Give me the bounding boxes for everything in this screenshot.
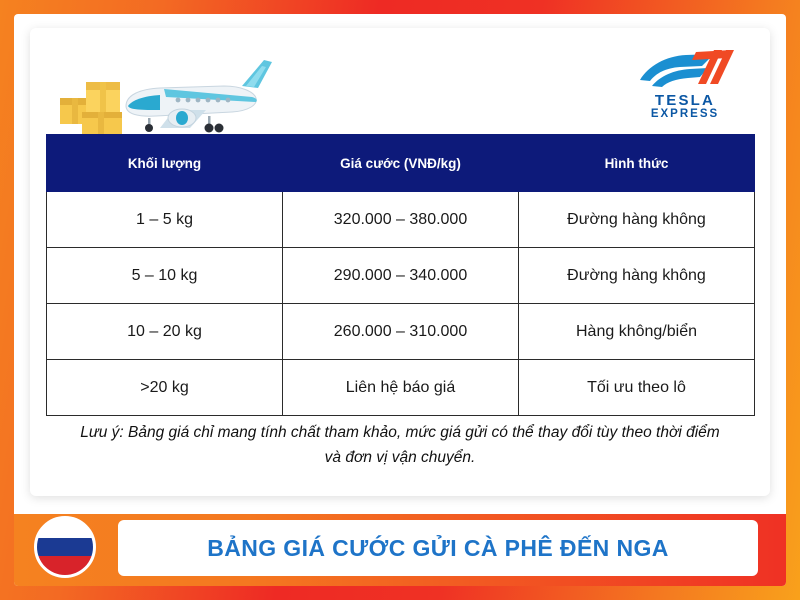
shipping-illustration [56, 48, 276, 148]
page-title: BẢNG GIÁ CƯỚC GỬI CÀ PHÊ ĐẾN NGA [207, 535, 669, 562]
tesla-express-swoosh-icon [622, 46, 748, 92]
logo-text-express: EXPRESS [622, 108, 748, 121]
cell-price: Liên hệ báo giá [283, 360, 519, 416]
cell-method: Đường hàng không [519, 192, 755, 248]
logo-mark-icon [622, 46, 748, 92]
logo-text-tesla: TESLA [622, 93, 748, 108]
cell-method: Tối ưu theo lô [519, 360, 755, 416]
poster: TESLA EXPRESS Khối lượng Giá cước (VNĐ/k… [0, 0, 800, 600]
cell-method: Hàng không/biển [519, 304, 755, 360]
disclaimer-note: Lưu ý: Bảng giá chỉ mang tính chất tham … [76, 420, 724, 470]
airplane-and-boxes-icon [56, 48, 276, 148]
cell-weight: 1 – 5 kg [47, 192, 283, 248]
table-row: 1 – 5 kg 320.000 – 380.000 Đường hàng kh… [47, 192, 755, 248]
table-header-row: Khối lượng Giá cước (VNĐ/kg) Hình thức [47, 135, 755, 192]
column-header-weight: Khối lượng [47, 135, 283, 192]
cell-weight: 5 – 10 kg [47, 248, 283, 304]
price-table-wrapper: Khối lượng Giá cước (VNĐ/kg) Hình thức 1… [46, 134, 754, 416]
cell-price: 290.000 – 340.000 [283, 248, 519, 304]
table-row: 5 – 10 kg 290.000 – 340.000 Đường hàng k… [47, 248, 755, 304]
table-row: 10 – 20 kg 260.000 – 310.000 Hàng không/… [47, 304, 755, 360]
column-header-method: Hình thức [519, 135, 755, 192]
cell-price: 320.000 – 380.000 [283, 192, 519, 248]
cell-method: Đường hàng không [519, 248, 755, 304]
table-row: >20 kg Liên hệ báo giá Tối ưu theo lô [47, 360, 755, 416]
cell-weight: 10 – 20 kg [47, 304, 283, 360]
column-header-price: Giá cước (VNĐ/kg) [283, 135, 519, 192]
content-card: TESLA EXPRESS Khối lượng Giá cước (VNĐ/k… [30, 28, 770, 496]
footer-title-pill: BẢNG GIÁ CƯỚC GỬI CÀ PHÊ ĐẾN NGA [118, 520, 758, 576]
price-table: Khối lượng Giá cước (VNĐ/kg) Hình thức 1… [46, 134, 755, 416]
brand-logo: TESLA EXPRESS [622, 46, 748, 128]
cell-weight: >20 kg [47, 360, 283, 416]
cell-price: 260.000 – 310.000 [283, 304, 519, 360]
russia-flag-icon [34, 516, 96, 578]
flag-band-blue [37, 538, 93, 557]
